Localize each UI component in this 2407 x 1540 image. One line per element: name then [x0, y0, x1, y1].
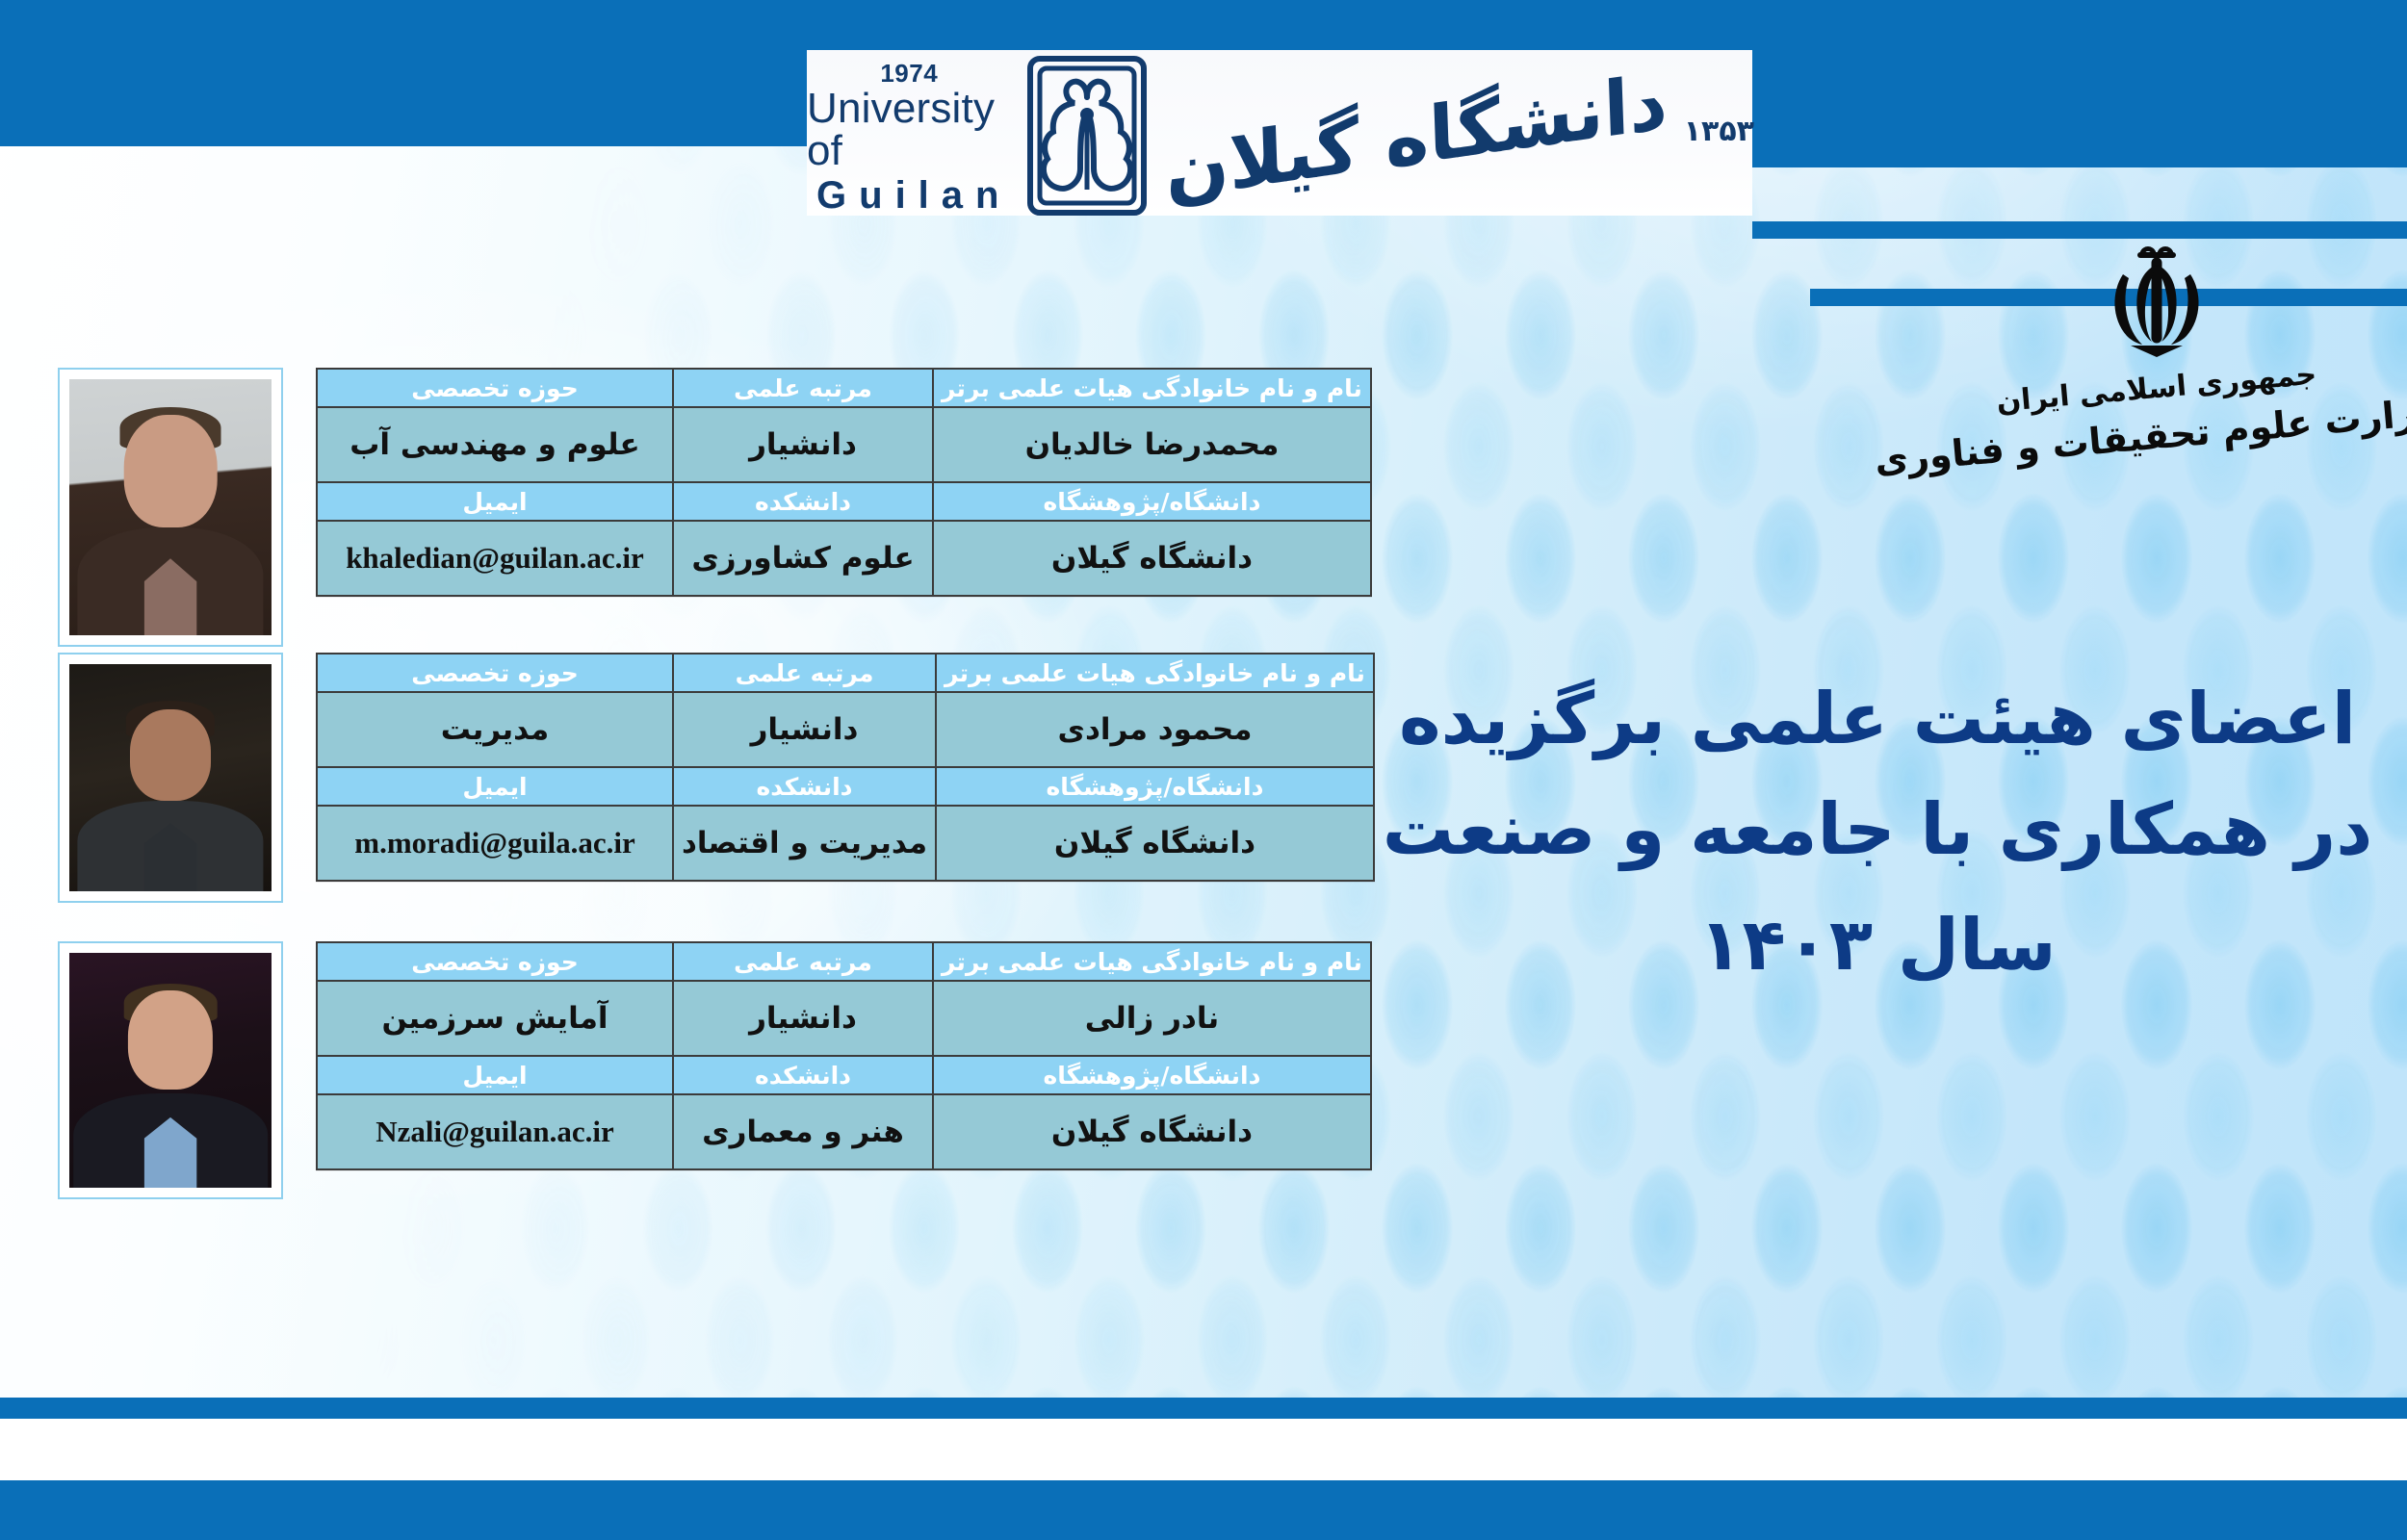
main-title-line-2: در همکاری با جامعه و صنعت	[1367, 775, 2388, 885]
value-institution: دانشگاه گیلان	[933, 1094, 1371, 1169]
table-row: محمود مرادی دانشیار مدیریت	[317, 692, 1374, 767]
decor-rule-1	[1752, 146, 2407, 167]
university-name-fa: دانشگاه گیلان	[1165, 64, 1669, 211]
value-faculty: مدیریت و اقتصاد	[673, 806, 936, 881]
person-block: نام و نام خانوادگی هیات علمی برتر مرتبه …	[58, 941, 1372, 1199]
header-faculty: دانشکده	[673, 767, 936, 806]
value-email[interactable]: khaledian@guilan.ac.ir	[317, 521, 673, 596]
guilan-university-emblem-icon	[1026, 55, 1148, 221]
bottom-blue-band	[0, 1480, 2407, 1540]
university-name-line2-en: Guilan	[807, 176, 1011, 215]
photo-frame	[58, 368, 283, 647]
value-faculty: علوم کشاورزی	[673, 521, 933, 596]
main-title: اعضای هیئت علمی برگزیده در همکاری با جام…	[1367, 664, 2388, 1001]
main-title-line-1: اعضای هیئت علمی برگزیده	[1367, 664, 2388, 775]
value-institution: دانشگاه گیلان	[936, 806, 1374, 881]
university-name-line1-en: University of	[807, 88, 1011, 172]
table-row: نام و نام خانوادگی هیات علمی برتر مرتبه …	[317, 654, 1374, 692]
header-institution: دانشگاه/پژوهشگاه	[936, 767, 1374, 806]
header-faculty: دانشکده	[673, 1056, 933, 1094]
value-rank: دانشیار	[673, 692, 936, 767]
bottom-white-band	[0, 1419, 2407, 1480]
table-row: نام و نام خانوادگی هیات علمی برتر مرتبه …	[317, 369, 1371, 407]
person-table: نام و نام خانوادگی هیات علمی برتر مرتبه …	[316, 941, 1372, 1170]
table-row: دانشگاه/پژوهشگاه دانشکده ایمیل	[317, 482, 1371, 521]
table-row: نادر زالی دانشیار آمایش سرزمین	[317, 981, 1371, 1056]
table-row: دانشگاه گیلان مدیریت و اقتصاد m.moradi@g…	[317, 806, 1374, 881]
table-row: دانشگاه گیلان هنر و معماری Nzali@guilan.…	[317, 1094, 1371, 1169]
portrait-photo	[69, 379, 272, 635]
university-logo-persian: ۱۳۵۳ دانشگاه گیلان	[1163, 100, 1754, 175]
table-row: محمدرضا خالدیان دانشیار علوم و مهندسی آب	[317, 407, 1371, 482]
value-email[interactable]: m.moradi@guila.ac.ir	[317, 806, 673, 881]
portrait-face	[124, 415, 218, 527]
portrait-photo	[69, 664, 272, 891]
value-email[interactable]: Nzali@guilan.ac.ir	[317, 1094, 673, 1169]
header-field: حوزه تخصصی	[317, 654, 673, 692]
iran-national-emblem-icon	[2084, 245, 2229, 366]
decor-rule-2	[1752, 221, 2407, 239]
value-rank: دانشیار	[673, 981, 933, 1056]
portrait-face	[130, 709, 211, 800]
header-name: نام و نام خانوادگی هیات علمی برتر	[933, 369, 1371, 407]
value-name: محمدرضا خالدیان	[933, 407, 1371, 482]
value-institution: دانشگاه گیلان	[933, 521, 1371, 596]
header-email: ایمیل	[317, 1056, 673, 1094]
header-email: ایمیل	[317, 767, 673, 806]
header-faculty: دانشکده	[673, 482, 933, 521]
header-name: نام و نام خانوادگی هیات علمی برتر	[933, 942, 1371, 981]
header-field: حوزه تخصصی	[317, 942, 673, 981]
value-name: محمود مرادی	[936, 692, 1374, 767]
poster-root: 1974 University of Guilan ۱۳۵۳ دانشگاه گ…	[0, 0, 2407, 1540]
person-table: نام و نام خانوادگی هیات علمی برتر مرتبه …	[316, 653, 1375, 882]
ministry-block: جمهوری اسلامی ایران وزارت علوم تحقیقات و…	[1916, 245, 2397, 534]
table-row: دانشگاه/پژوهشگاه دانشکده ایمیل	[317, 767, 1374, 806]
header-rank: مرتبه علمی	[673, 942, 933, 981]
header-rank: مرتبه علمی	[673, 654, 936, 692]
value-field: آمایش سرزمین	[317, 981, 673, 1056]
university-founding-year-fa: ۱۳۵۳	[1684, 117, 1754, 146]
top-blue-band-left	[0, 0, 807, 146]
table-row: دانشگاه گیلان علوم کشاورزی khaledian@gui…	[317, 521, 1371, 596]
portrait-face	[128, 990, 213, 1089]
value-rank: دانشیار	[673, 407, 933, 482]
header-field: حوزه تخصصی	[317, 369, 673, 407]
university-logo: 1974 University of Guilan ۱۳۵۳ دانشگاه گ…	[867, 75, 1695, 200]
portrait-photo	[69, 953, 272, 1188]
header-email: ایمیل	[317, 482, 673, 521]
header-institution: دانشگاه/پژوهشگاه	[933, 482, 1371, 521]
university-founding-year-en: 1974	[880, 61, 938, 86]
top-blue-band-right	[1752, 0, 2407, 146]
university-logo-english: 1974 University of Guilan	[807, 61, 1011, 215]
table-row: دانشگاه/پژوهشگاه دانشکده ایمیل	[317, 1056, 1371, 1094]
main-title-line-3: سال ۱۴۰۳	[1367, 890, 2388, 1001]
value-field: مدیریت	[317, 692, 673, 767]
header-name: نام و نام خانوادگی هیات علمی برتر	[936, 654, 1374, 692]
person-block: نام و نام خانوادگی هیات علمی برتر مرتبه …	[58, 368, 1372, 647]
person-block: نام و نام خانوادگی هیات علمی برتر مرتبه …	[58, 653, 1375, 903]
photo-frame	[58, 941, 283, 1199]
table-row: نام و نام خانوادگی هیات علمی برتر مرتبه …	[317, 942, 1371, 981]
header-rank: مرتبه علمی	[673, 369, 933, 407]
person-table: نام و نام خانوادگی هیات علمی برتر مرتبه …	[316, 368, 1372, 597]
value-name: نادر زالی	[933, 981, 1371, 1056]
header-institution: دانشگاه/پژوهشگاه	[933, 1056, 1371, 1094]
photo-frame	[58, 653, 283, 903]
value-field: علوم و مهندسی آب	[317, 407, 673, 482]
value-faculty: هنر و معماری	[673, 1094, 933, 1169]
bottom-thin-band	[0, 1398, 2407, 1419]
